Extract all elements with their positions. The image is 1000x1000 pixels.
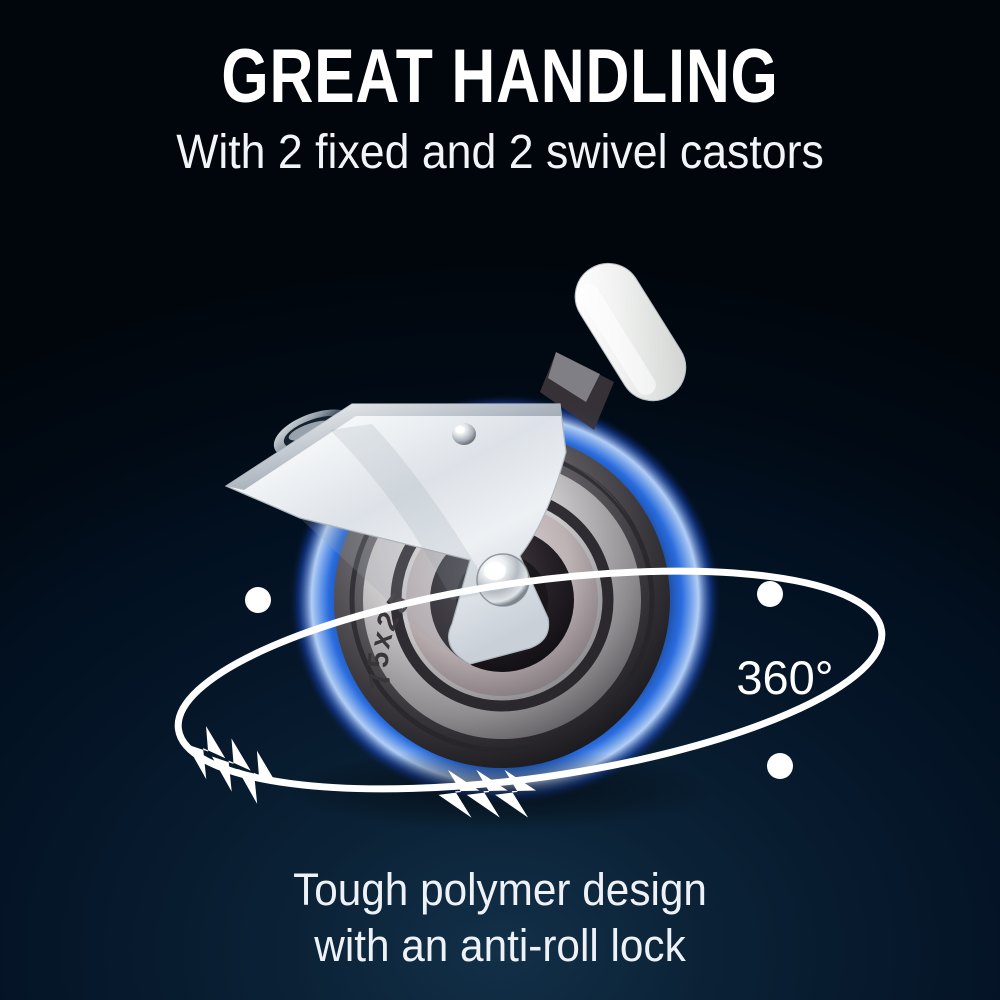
direction-chevrons xyxy=(176,716,285,813)
product-feature-graphic: GREAT HANDLING With 2 fixed and 2 swivel… xyxy=(0,0,1000,1000)
direction-chevrons xyxy=(436,761,538,826)
orbit-node xyxy=(245,587,271,613)
orbit-node xyxy=(757,581,783,607)
rotation-degree-label: 360° xyxy=(705,652,865,704)
rotation-orbit-indicator xyxy=(0,0,1000,1000)
orbit-node xyxy=(767,753,793,779)
